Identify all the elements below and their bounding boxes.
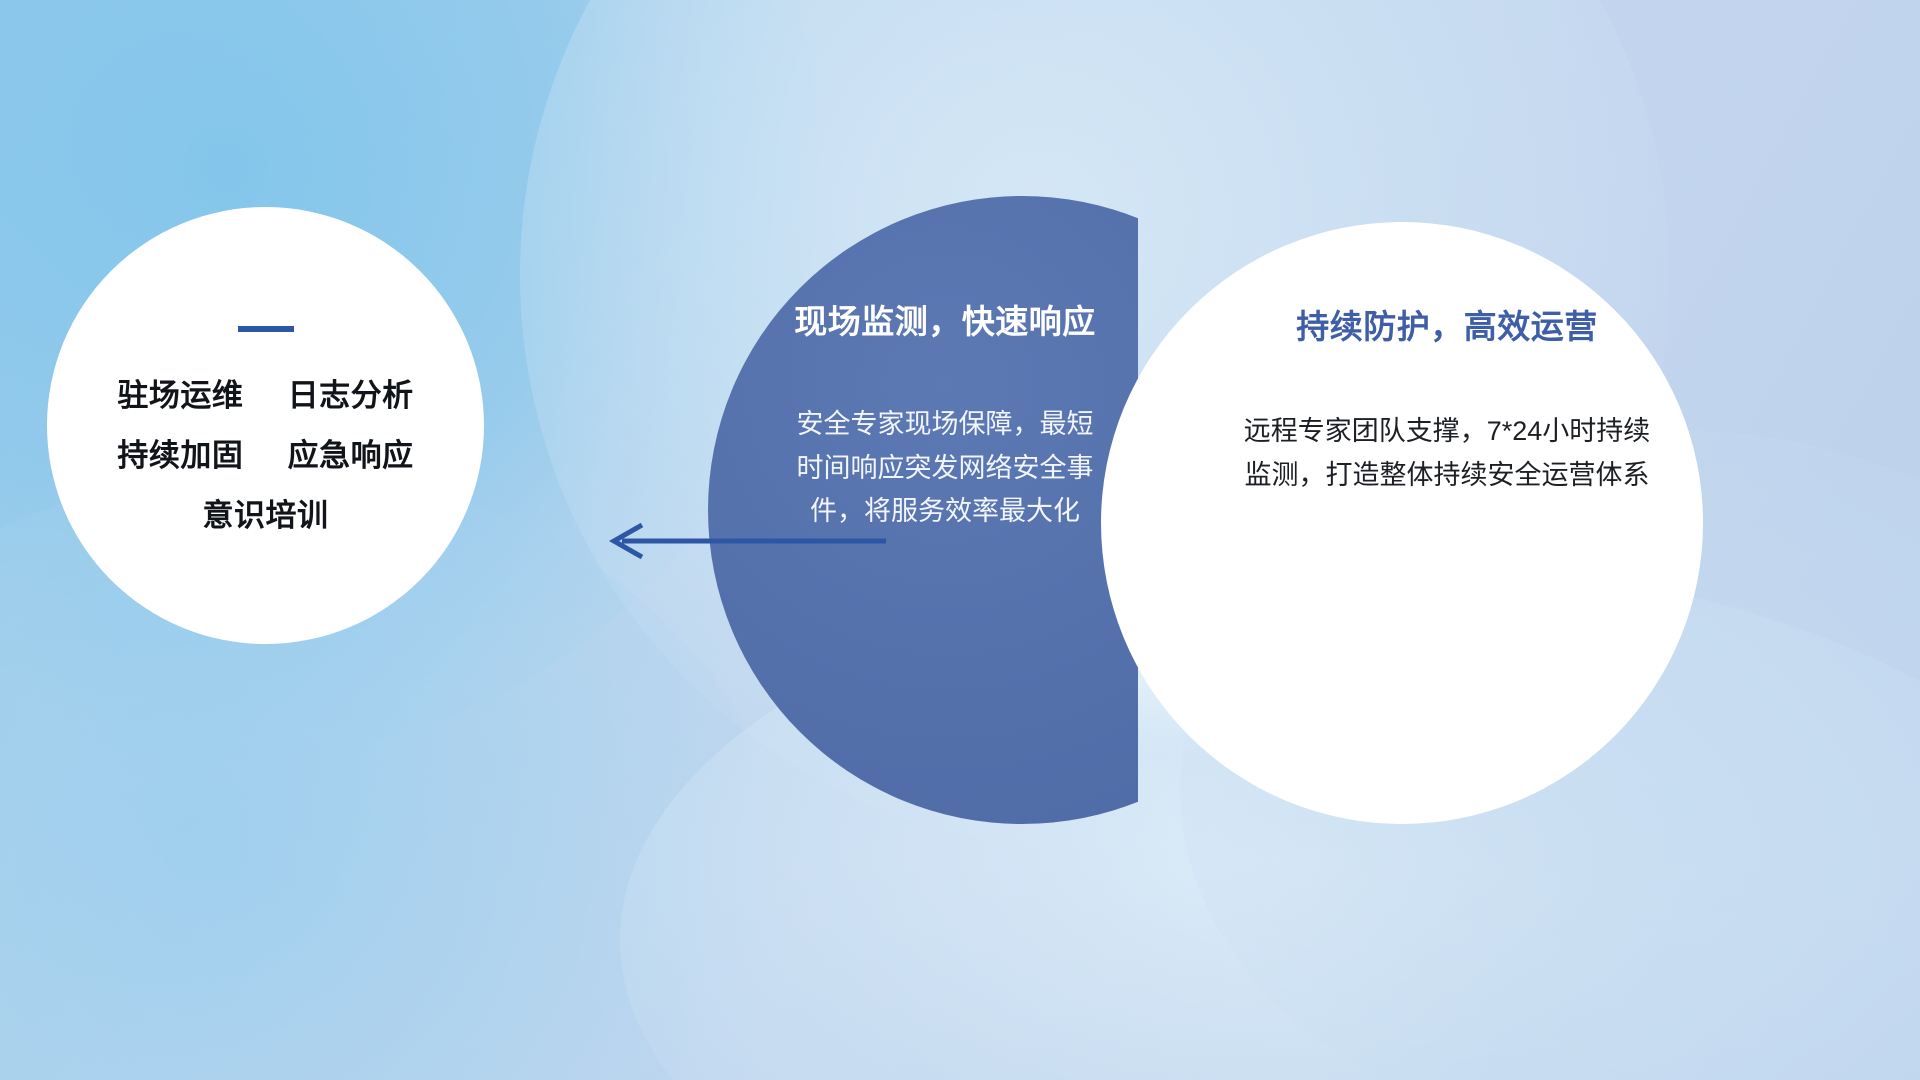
left-circle-line-1: 驻场运维 日志分析 — [117, 380, 413, 411]
slide-canvas: 现场监测，快速响应 安全专家现场保障，最短时间响应突发网络安全事件，将服务效率最… — [0, 0, 1920, 1080]
left-tag-5: 意识培训 — [203, 498, 329, 533]
flow-arrow-icon — [600, 518, 890, 564]
middle-circle-card[interactable]: 现场监测，快速响应 安全专家现场保障，最短时间响应突发网络安全事件，将服务效率最… — [708, 196, 1138, 824]
left-tag-2: 日志分析 — [288, 378, 414, 413]
right-circle-body: 远程专家团队支撑，7*24小时持续监测，打造整体持续安全运营体系 — [1243, 410, 1651, 497]
left-circle-line-3: 意识培训 — [203, 500, 329, 531]
left-tag-3: 持续加固 — [117, 438, 243, 473]
middle-circle-content: 现场监测，快速响应 安全专家现场保障，最短时间响应突发网络安全事件，将服务效率最… — [708, 196, 1138, 824]
left-circle-line-2: 持续加固 应急响应 — [117, 440, 413, 471]
middle-circle-body: 安全专家现场保障，最短时间响应突发网络安全事件，将服务效率最大化 — [785, 403, 1105, 534]
left-circle-content: 驻场运维 日志分析 持续加固 应急响应 意识培训 — [47, 207, 484, 644]
accent-dash-icon — [238, 326, 294, 332]
left-tag-4: 应急响应 — [288, 438, 414, 473]
left-tag-1: 驻场运维 — [117, 378, 243, 413]
middle-circle-title: 现场监测，快速响应 — [794, 295, 1096, 343]
left-circle-card[interactable]: 驻场运维 日志分析 持续加固 应急响应 意识培训 — [47, 207, 484, 644]
right-circle-content: 持续防护，高效运营 远程专家团队支撑，7*24小时持续监测，打造整体持续安全运营… — [1101, 222, 1703, 824]
right-circle-title: 持续防护，高效运营 — [1296, 300, 1598, 348]
right-circle-card[interactable]: 持续防护，高效运营 远程专家团队支撑，7*24小时持续监测，打造整体持续安全运营… — [1101, 222, 1703, 824]
